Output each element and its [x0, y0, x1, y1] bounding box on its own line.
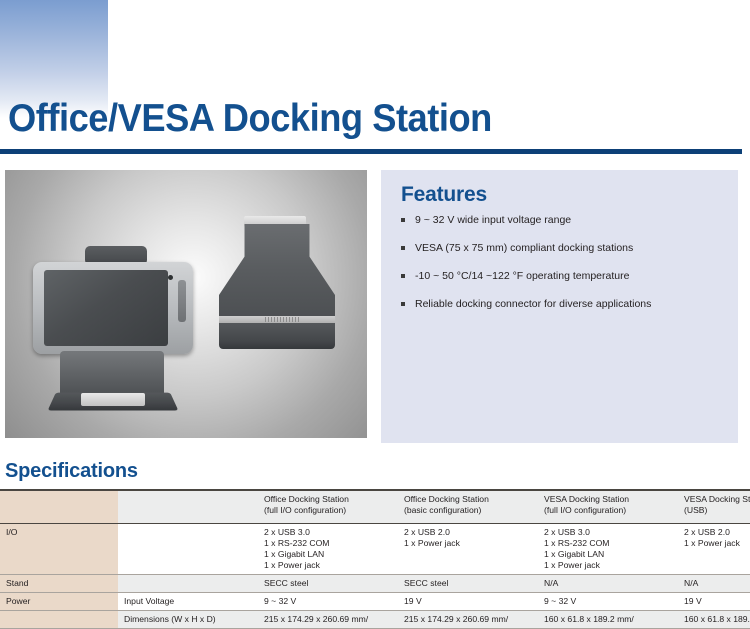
feature-item: VESA (75 x 75 mm) compliant docking stat…	[401, 242, 721, 255]
row-cell: 2 x USB 2.01 x Power jack	[678, 524, 750, 575]
header-sub-cell	[118, 490, 258, 524]
column-header-3: VESA Docking Station (full I/O configura…	[538, 490, 678, 524]
row-sublabel	[118, 575, 258, 593]
docking-station-front-unit	[33, 238, 193, 408]
row-cell: N/A	[538, 575, 678, 593]
row-cell: 19 V	[398, 593, 538, 611]
table-row: Power Input Voltage 9 ~ 32 V 19 V 9 ~ 32…	[0, 593, 750, 611]
row-cell: 215 x 174.29 x 260.69 mm/	[398, 611, 538, 629]
column-header-line2: (basic configuration)	[404, 505, 481, 515]
row-cell: 2 x USB 3.01 x RS-232 COM1 x Gigabit LAN…	[538, 524, 678, 575]
row-cell: 2 x USB 3.01 x RS-232 COM1 x Gigabit LAN…	[258, 524, 398, 575]
feature-item: 9 ~ 32 V wide input voltage range	[401, 214, 721, 227]
row-sublabel: Input Voltage	[118, 593, 258, 611]
row-label: Stand	[0, 575, 118, 593]
features-panel: Features 9 ~ 32 V wide input voltage ran…	[381, 170, 738, 443]
dock-slot	[81, 393, 145, 406]
specifications-table: Office Docking Station (full I/O configu…	[0, 489, 750, 629]
row-label: I/O	[0, 524, 118, 575]
rear-base	[219, 323, 335, 349]
feature-item: Reliable docking connector for diverse a…	[401, 298, 721, 311]
column-header-2: Office Docking Station (basic configurat…	[398, 490, 538, 524]
column-header-line1: VESA Docking Station	[684, 494, 750, 504]
bullet-square-icon	[401, 218, 405, 222]
column-header-1: Office Docking Station (full I/O configu…	[258, 490, 398, 524]
row-cell: 19 V	[678, 593, 750, 611]
column-header-line2: (full I/O configuration)	[264, 505, 346, 515]
column-header-line1: Office Docking Station	[264, 494, 349, 504]
table-row: I/O 2 x USB 3.01 x RS-232 COM1 x Gigabit…	[0, 524, 750, 575]
row-sublabel: Dimensions (W x H x D)	[118, 611, 258, 629]
row-label: Power	[0, 593, 118, 611]
row-cell: 215 x 174.29 x 260.69 mm/	[258, 611, 398, 629]
feature-text: VESA (75 x 75 mm) compliant docking stat…	[415, 242, 633, 254]
row-cell: SECC steel	[398, 575, 538, 593]
column-header-line1: VESA Docking Station	[544, 494, 629, 504]
features-heading: Features	[401, 183, 487, 207]
row-label	[0, 611, 118, 629]
tablet-side-button	[178, 280, 186, 322]
row-cell: 160 x 61.8 x 189.2 mm/	[678, 611, 750, 629]
features-list: 9 ~ 32 V wide input voltage range VESA (…	[401, 214, 721, 326]
row-cell: 160 x 61.8 x 189.2 mm/	[538, 611, 678, 629]
page-title: Office/VESA Docking Station	[8, 97, 492, 141]
table-row: Stand SECC steel SECC steel N/A N/A	[0, 575, 750, 593]
product-photo	[5, 170, 367, 438]
title-divider-rule	[0, 149, 742, 154]
tablet-camera	[168, 275, 173, 280]
column-header-line2: (full I/O configuration)	[544, 505, 626, 515]
feature-item: -10 ~ 50 °C/14 ~122 °F operating tempera…	[401, 270, 721, 283]
table-row: Dimensions (W x H x D) 215 x 174.29 x 26…	[0, 611, 750, 629]
row-cell: 9 ~ 32 V	[538, 593, 678, 611]
feature-text: 9 ~ 32 V wide input voltage range	[415, 214, 571, 226]
row-sublabel	[118, 524, 258, 575]
bullet-square-icon	[401, 274, 405, 278]
row-cell: 2 x USB 2.01 x Power jack	[398, 524, 538, 575]
tablet-screen	[44, 270, 168, 346]
column-header-line1: Office Docking Station	[404, 494, 489, 504]
row-cell: 9 ~ 32 V	[258, 593, 398, 611]
row-cell: N/A	[678, 575, 750, 593]
feature-text: Reliable docking connector for diverse a…	[415, 298, 651, 310]
feature-text: -10 ~ 50 °C/14 ~122 °F operating tempera…	[415, 270, 629, 282]
rear-vent-grille	[265, 317, 301, 322]
row-cell: SECC steel	[258, 575, 398, 593]
column-header-4: VESA Docking Station (USB)	[678, 490, 750, 524]
bullet-square-icon	[401, 246, 405, 250]
header-label-cell	[0, 490, 118, 524]
specifications-heading: Specifications	[5, 460, 138, 483]
docking-station-rear-unit	[217, 216, 337, 356]
tablet-body	[33, 262, 193, 354]
table-header-row: Office Docking Station (full I/O configu…	[0, 490, 750, 524]
rear-body	[219, 224, 335, 320]
column-header-line2: (USB)	[684, 505, 707, 515]
bullet-square-icon	[401, 302, 405, 306]
